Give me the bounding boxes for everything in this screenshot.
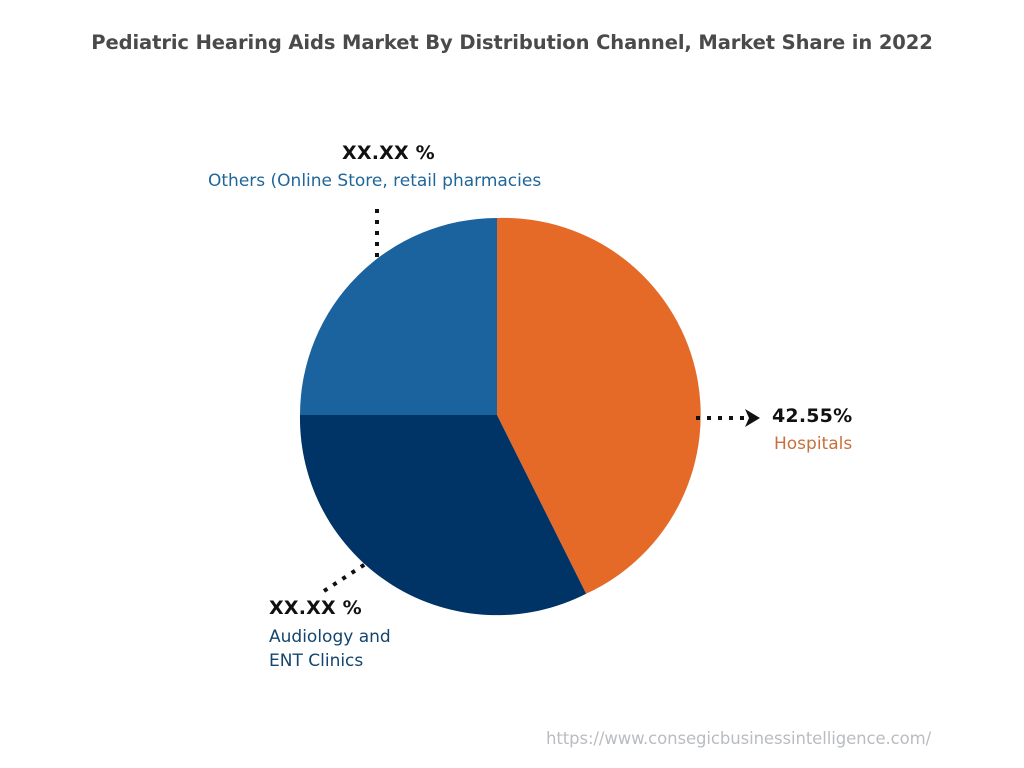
callout-others-label: Others (Online Store, retail pharmacies: [208, 171, 541, 193]
source-url[interactable]: https://www.consegicbusinessintelligence…: [546, 729, 931, 748]
callout-hospitals: 42.55% Hospitals: [772, 405, 852, 456]
callout-audiology-label-line2: ENT Clinics: [269, 651, 391, 673]
callout-audiology: XX.XX % Audiology and ENT Clinics: [269, 597, 391, 672]
callout-audiology-value: XX.XX %: [269, 597, 391, 621]
pie-slice-others[interactable]: [300, 218, 497, 415]
pie-chart-figure: Pediatric Hearing Aids Market By Distrib…: [0, 0, 1024, 768]
callout-others-value: XX.XX %: [342, 142, 541, 166]
callout-others: XX.XX % Others (Online Store, retail pha…: [208, 142, 541, 193]
leader-line-audiology: [324, 561, 370, 591]
callout-hospitals-label: Hospitals: [774, 434, 852, 456]
callout-hospitals-value: 42.55%: [772, 405, 852, 429]
leader-arrowhead-hospitals: [745, 409, 760, 427]
callout-audiology-label-line1: Audiology and: [269, 627, 391, 649]
pie-chart-svg: [0, 0, 1024, 768]
